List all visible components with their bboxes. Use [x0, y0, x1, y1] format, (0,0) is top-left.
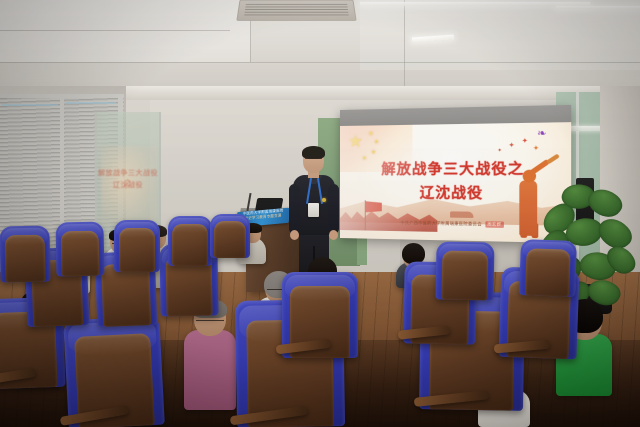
presenter-arm-left [289, 184, 300, 234]
seat-headrest-highlight [57, 224, 101, 241]
auditorium-seat[interactable] [168, 216, 212, 266]
audience-member [184, 300, 236, 410]
red-flag-graphic [366, 201, 382, 212]
ceiling-seam [0, 30, 230, 31]
eyeglasses-icon [196, 320, 224, 324]
audience-member-body [184, 330, 236, 410]
eyeglasses-icon [305, 158, 322, 163]
seat-headrest-highlight [438, 244, 492, 262]
seat-headrest-highlight [523, 241, 575, 260]
ceiling-panel [0, 0, 250, 62]
reflection-text-line2: 辽沈战役 [97, 180, 159, 190]
presenter-hand-right [329, 230, 338, 240]
air-conditioning-vent-icon [236, 0, 356, 21]
seat-headrest-highlight [170, 218, 210, 233]
auditorium-seat[interactable] [210, 214, 250, 258]
auditorium-seat[interactable] [114, 220, 160, 272]
warship-graphic [450, 211, 473, 218]
auditorium-seat[interactable] [56, 222, 105, 277]
presenter-arm-right [328, 184, 339, 234]
blind-highlight [66, 102, 116, 104]
ceiling-panel [360, 0, 640, 70]
seat-headrest-highlight [2, 228, 48, 246]
id-badge [308, 203, 319, 217]
auditorium-seat[interactable] [435, 241, 494, 300]
auditorium-seat[interactable] [519, 239, 577, 297]
presenter-hand-left [290, 230, 299, 240]
ceiling-seam [404, 0, 405, 88]
ceiling-seam [0, 62, 640, 63]
party-emblem-pin-icon [322, 198, 326, 202]
slide-presenter-tag: 周宏群 [485, 221, 503, 228]
seat-headrest-highlight [116, 222, 158, 238]
seat-headrest-highlight [285, 275, 355, 301]
seat-headrest-highlight [212, 216, 249, 229]
auditorium-seat[interactable] [0, 226, 50, 283]
ceiling-strip-light [556, 6, 640, 9]
slide-subtitle: 中共广西中医药大学附属瑞康医院委员会 [400, 220, 481, 227]
blind-highlight [2, 104, 58, 106]
flag-pole-graphic [365, 200, 366, 230]
photo-scene: 解放战争三大战役之 辽沈战役 ★ ★ ★ ★ ★ ❧ ✦ ✦ ✦ ✦ [0, 0, 640, 427]
